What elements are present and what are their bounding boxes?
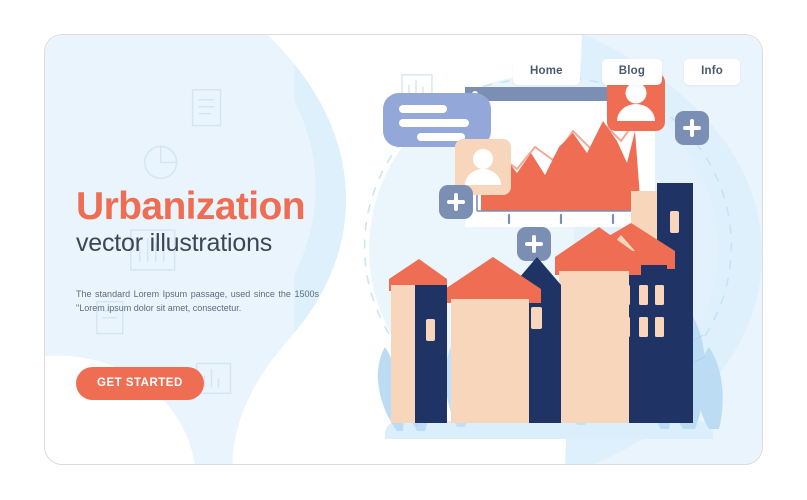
- plus-button-right: [675, 111, 709, 145]
- bubble-line-1: [399, 105, 447, 113]
- house-left: [389, 259, 447, 423]
- hero-description: The standard Lorem Ipsum passage, used s…: [76, 287, 319, 316]
- nav-item-blog[interactable]: Blog: [602, 59, 662, 85]
- nav-item-info[interactable]: Info: [684, 59, 740, 85]
- screen: Home Blog Info Urbanization vector illus…: [0, 0, 807, 500]
- page-title: Urbanization: [76, 187, 354, 226]
- house-right: [555, 227, 641, 423]
- bubble-line-3: [417, 133, 465, 141]
- get-started-button[interactable]: GET STARTED: [76, 367, 204, 401]
- house-center: [445, 257, 541, 423]
- urbanization-illustration: [345, 35, 763, 465]
- hero-copy: Urbanization vector illustrations The st…: [76, 187, 354, 400]
- hero-card: Home Blog Info Urbanization vector illus…: [44, 34, 763, 465]
- bubble-line-2: [399, 119, 469, 127]
- plus-button-left: [439, 185, 473, 219]
- nav-item-home[interactable]: Home: [513, 59, 580, 85]
- top-navigation: Home Blog Info: [513, 59, 740, 85]
- plus-button-center: [517, 227, 551, 261]
- page-subtitle: vector illustrations: [76, 230, 354, 258]
